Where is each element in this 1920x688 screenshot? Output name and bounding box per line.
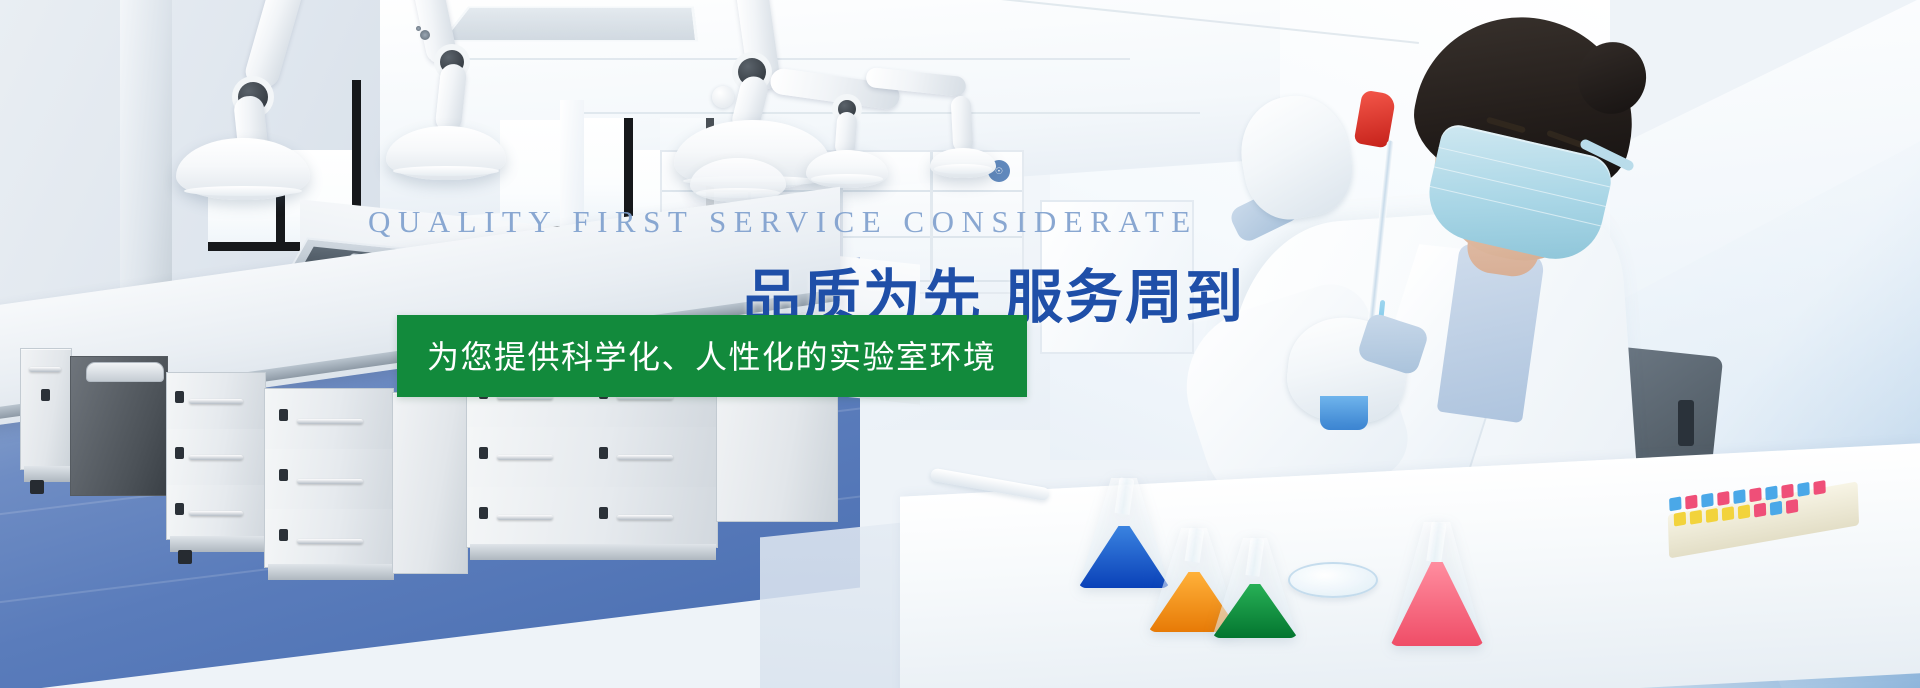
banner-subtitle-band: 为您提供科学化、人性化的实验室环境 [397,315,1027,397]
banner-copy: QUALITY FIRST SERVICE CONSIDERATE 品质为先 服… [0,0,1920,688]
banner-subtitle-text: 为您提供科学化、人性化的实验室环境 [427,338,997,376]
banner-eyebrow-text: QUALITY FIRST SERVICE CONSIDERATE [368,204,1198,240]
hero-banner: ☉ [0,0,1920,688]
